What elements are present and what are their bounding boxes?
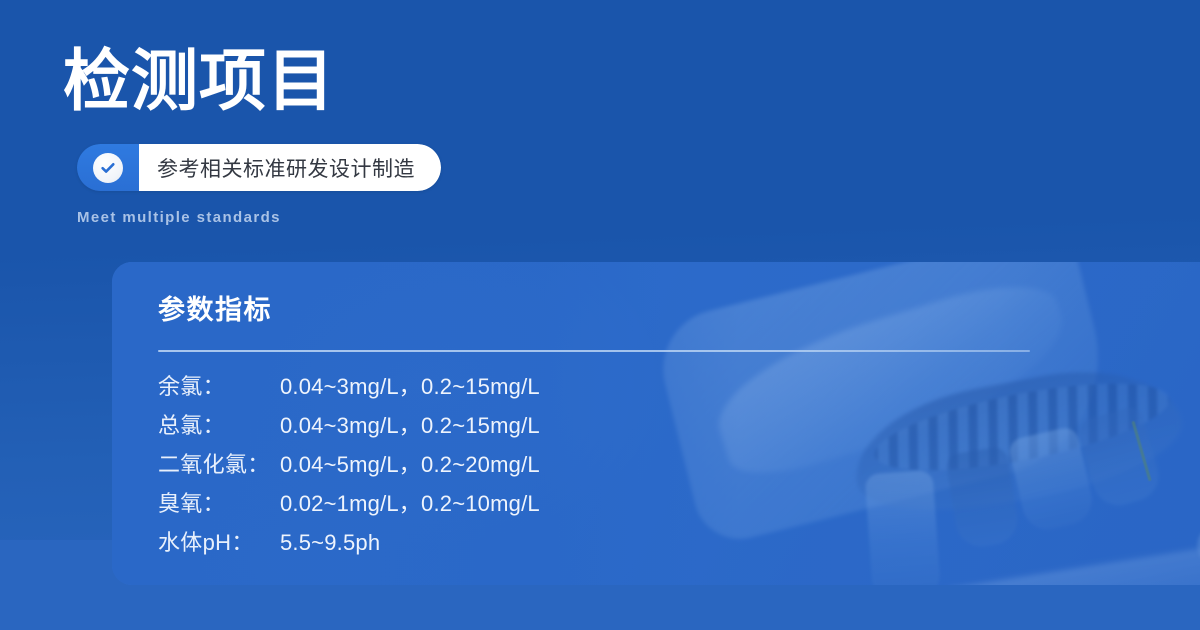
parameter-list: 余氯： 0.04~3mg/L，0.2~15mg/L 总氯： 0.04~3mg/L… bbox=[158, 369, 1200, 564]
header-subtitle: Meet multiple standards bbox=[77, 209, 281, 226]
check-circle-icon bbox=[93, 153, 123, 183]
panel-content: 参数指标 余氯： 0.04~3mg/L，0.2~15mg/L 总氯： 0.04~… bbox=[158, 288, 1200, 580]
parameter-row: 二氧化氯： 0.04~5mg/L，0.2~20mg/L bbox=[158, 447, 1200, 486]
parameter-label: 水体pH： bbox=[158, 525, 280, 557]
parameter-value: 0.04~3mg/L，0.2~15mg/L bbox=[280, 369, 540, 401]
parameter-panel: 参数指标 余氯： 0.04~3mg/L，0.2~15mg/L 总氯： 0.04~… bbox=[112, 262, 1200, 585]
parameter-row: 余氯： 0.04~3mg/L，0.2~15mg/L bbox=[158, 369, 1200, 408]
parameter-label: 二氧化氯： bbox=[158, 447, 280, 479]
parameter-label: 臭氧： bbox=[158, 486, 280, 518]
panel-title: 参数指标 bbox=[158, 288, 1200, 327]
page-title: 检测项目 bbox=[63, 44, 683, 120]
parameter-row: 臭氧： 0.02~1mg/L，0.2~10mg/L bbox=[158, 486, 1200, 525]
badge-icon-panel bbox=[77, 144, 139, 191]
parameter-label: 余氯： bbox=[158, 369, 280, 401]
parameter-value: 0.04~3mg/L，0.2~15mg/L bbox=[280, 408, 540, 440]
standards-badge[interactable]: 参考相关标准研发设计制造 bbox=[77, 144, 441, 191]
parameter-value: 0.02~1mg/L，0.2~10mg/L bbox=[280, 486, 540, 518]
parameter-label: 总氯： bbox=[158, 408, 280, 440]
badge-text-panel: 参考相关标准研发设计制造 bbox=[139, 144, 441, 191]
parameter-row: 水体pH： 5.5~9.5ph bbox=[158, 525, 1200, 564]
parameter-value: 0.04~5mg/L，0.2~20mg/L bbox=[280, 447, 540, 479]
header-block: 检测项目 bbox=[63, 44, 683, 120]
poster-canvas: 检测项目 参考相关标准研发设计制造 Meet multiple standard… bbox=[0, 0, 1200, 630]
panel-divider bbox=[158, 350, 1030, 352]
badge-label: 参考相关标准研发设计制造 bbox=[157, 153, 415, 183]
parameter-row: 总氯： 0.04~3mg/L，0.2~15mg/L bbox=[158, 408, 1200, 447]
parameter-value: 5.5~9.5ph bbox=[280, 530, 380, 556]
